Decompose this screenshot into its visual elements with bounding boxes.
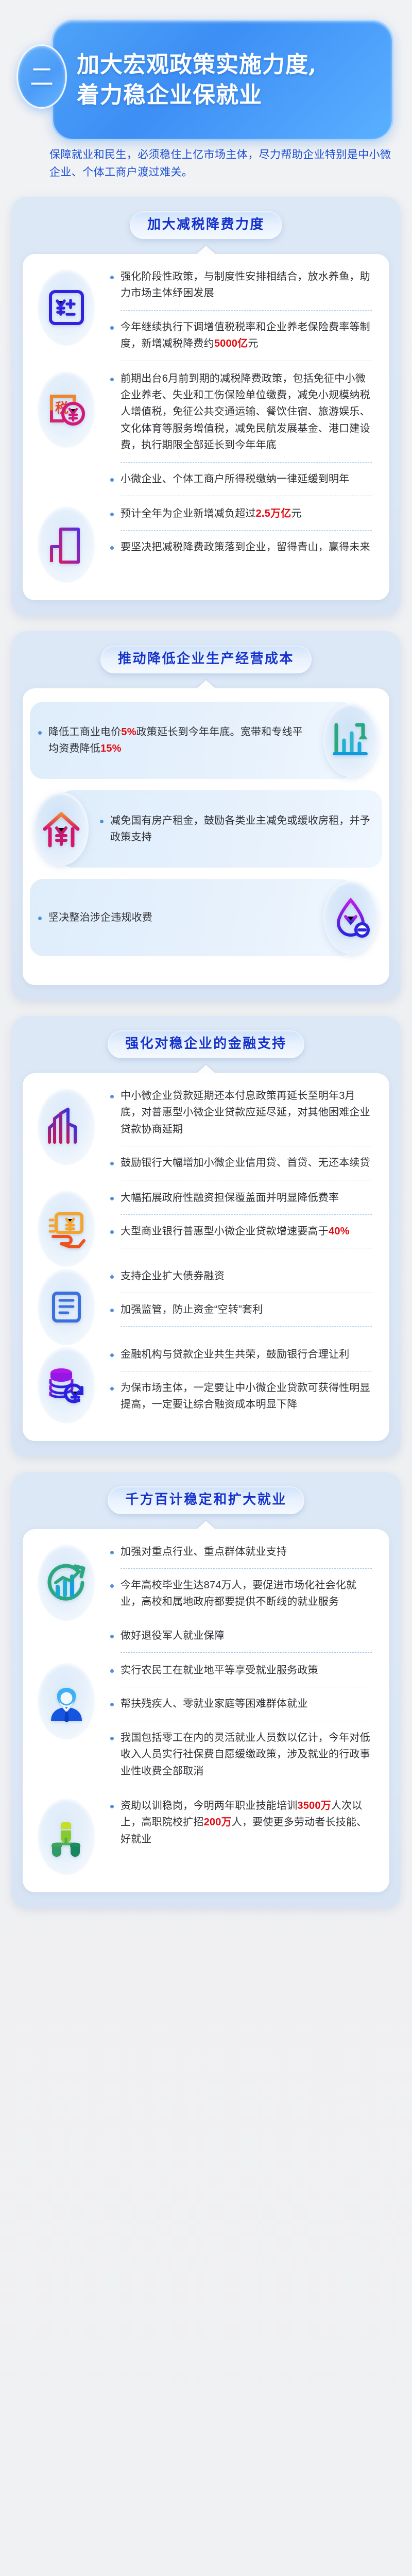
policy-group-row: 税 前期出台6月前到期的减税降费政策，包括免征中小微企业养老、失业和工伤保险单位… (23, 369, 389, 504)
infographic-page: 加大宏观政策实施力度, 着力稳企业保就业 二 保障就业和民生，必须稳住上亿市场主… (0, 0, 412, 2576)
bullet-divider (121, 361, 372, 361)
bullet-text: 坚决整治涉企违规收费 (48, 909, 312, 926)
bullet-dot-icon (110, 1669, 114, 1673)
highlight-number: 3500万 (297, 1800, 331, 1811)
group-icon-slot (23, 1797, 110, 1875)
section-title: 千方百计稳定和扩大就业 (125, 1493, 287, 1506)
bullet-divider (121, 530, 372, 531)
policy-section: 强化对稳企业的金融支持 中小微企业贷款延期还本付息政策再延长至明年3月底，对普惠… (11, 1016, 401, 1456)
pill-text-slot: 降低工商业电价5%政策延长到今年年底。宽带和专线平均资费降低15% (23, 715, 312, 767)
highlight-number: 5% (121, 726, 136, 738)
section-notch-arrow (196, 1521, 216, 1530)
policy-group-row: 中小微企业贷款延期还本付息政策再延长至明年3月底，对普惠型小微企业贷款应延尽延，… (23, 1087, 389, 1189)
yen-calculator-icon (38, 269, 95, 346)
bullet-dot-icon (110, 1805, 114, 1808)
bullet-item: 我国包括零工在内的灵活就业人员数以亿计，今年对低收入人员实行社保费自愿缓缴政策，… (110, 1730, 372, 1780)
city-skyline-icon (38, 1089, 95, 1165)
bullet-text: 鼓励银行大幅增加小微企业信用贷、首贷、无还本续贷 (121, 1155, 372, 1171)
bar-chart-building-icon (38, 506, 95, 583)
bullet-dot-icon (110, 513, 114, 516)
bullet-divider (121, 1652, 372, 1653)
policy-group-row: 大幅拓展政府性融资担保覆盖面并明显降低费率大型商业银行普惠型小微企业贷款增速要高… (23, 1189, 389, 1267)
body-text: 降低工商业电价 (48, 726, 121, 738)
bullet-dot-icon (110, 1309, 114, 1312)
body-text: 大幅拓展政府性融资担保覆盖面并明显降低费率 (121, 1192, 339, 1204)
highlight-number: 200万 (204, 1817, 232, 1828)
bullet-dot-icon (110, 1162, 114, 1165)
bullet-item: 大型商业银行普惠型小微企业贷款增速要高于40% (110, 1223, 372, 1240)
group-icon-slot: 税 (23, 369, 110, 448)
body-text: 鼓励银行大幅增加小微企业信用贷、首贷、无还本续贷 (121, 1157, 370, 1168)
highlight-number: 2.5万亿 (256, 508, 291, 519)
bullet-text: 做好退役军人就业保障 (121, 1628, 372, 1644)
bullet-text: 强化阶段性政策，与制度性安排相结合，放水养鱼，助力市场主体纾困发展 (121, 268, 372, 302)
bullet-dot-icon (110, 276, 114, 279)
bullet-item: 预计全年为企业新增减负超过2.5万亿元 (110, 505, 372, 522)
bullet-item: 加强监管，防止资金“空转”套利 (110, 1301, 372, 1318)
businessman-avatar-icon (38, 1663, 95, 1739)
pill-icon-slot (23, 792, 100, 866)
policy-section: 推动降低企业生产经营成本降低工商业电价5%政策延长到今年年底。宽带和专线平均资费… (11, 631, 401, 1001)
bullet-item: 做好退役军人就业保障 (110, 1628, 372, 1644)
body-text: 元 (291, 508, 301, 519)
growth-chart-arrow-icon (38, 1545, 95, 1621)
bullet-text: 要坚决把减税降费政策落到企业，留得青山，赢得未来 (121, 539, 372, 555)
highlight-number: 15% (100, 743, 122, 754)
bullet-text: 我国包括零工在内的灵活就业人员数以亿计，今年对低收入人员实行社保费自愿缓缴政策，… (121, 1730, 372, 1780)
group-text-slot: 大幅拓展政府性融资担保覆盖面并明显降低费率大型商业银行普惠型小微企业贷款增速要高… (110, 1189, 389, 1257)
bullet-divider (121, 1146, 372, 1146)
bullet-item: 支持企业扩大债券融资 (110, 1268, 372, 1284)
group-text-slot: 支持企业扩大债券融资加强监管，防止资金“空转”套利 (110, 1267, 389, 1335)
bullet-item: 为保市场主体，一定要让中小微企业贷款可获得性明显提高，一定要让综合融资成本明显下… (110, 1380, 372, 1413)
group-icon-slot (23, 1661, 110, 1739)
bullet-dot-icon (110, 478, 114, 482)
bullet-text: 加强监管，防止资金“空转”套利 (121, 1301, 372, 1318)
group-text-slot: 金融机构与贷款企业共生共荣，鼓励银行合理让利为保市场主体，一定要让中小微企业贷款… (110, 1345, 389, 1413)
pill-text-slot: 坚决整治涉企违规收费 (23, 900, 312, 935)
bullet-dot-icon (110, 1275, 114, 1279)
page-title: 加大宏观政策实施力度, 着力稳企业保就业 (77, 50, 317, 110)
section-title: 强化对稳企业的金融支持 (125, 1037, 287, 1050)
bullet-dot-icon (110, 1387, 114, 1391)
bullet-dot-icon (110, 378, 114, 381)
bullet-dot-icon (110, 1584, 114, 1588)
bullet-text: 帮扶残疾人、零就业家庭等困难群体就业 (121, 1696, 372, 1712)
bullet-item: 小微企业、个体工商户所得税缴纳一律延缓到明年 (110, 471, 372, 487)
policy-group-row: 支持企业扩大债券融资加强监管，防止资金“空转”套利 (23, 1267, 389, 1345)
bullet-item: 减免国有房产租金，鼓励各类业主减免或缓收房租，并予政策支持 (100, 812, 372, 846)
pill-icon-slot (312, 704, 389, 777)
section-title-pill: 强化对稳企业的金融支持 (108, 1030, 304, 1058)
bullet-text: 金融机构与贷款企业共生共荣，鼓励银行合理让利 (121, 1346, 372, 1363)
bullet-dot-icon (110, 546, 114, 550)
body-text: 帮扶残疾人、零就业家庭等困难群体就业 (121, 1698, 308, 1709)
section-title-pill: 加大减税降费力度 (130, 211, 282, 239)
bullet-item: 坚决整治涉企违规收费 (38, 909, 312, 926)
bullet-text: 减免国有房产租金，鼓励各类业主减免或缓收房租，并予政策支持 (110, 812, 372, 846)
bullet-item: 今年高校毕业生达874万人，要促进市场化社会化就业，高校和属地政府都要提供不断线… (110, 1577, 372, 1611)
bullet-dot-icon (110, 1197, 114, 1200)
policy-pill-row: 降低工商业电价5%政策延长到今年年底。宽带和专线平均资费降低15% (23, 702, 389, 779)
bullet-divider (121, 1721, 372, 1721)
policy-pill-row: 坚决整治涉企违规收费 (23, 879, 389, 956)
bullet-dot-icon (110, 1095, 114, 1098)
policy-group-row: 预计全年为企业新增减负超过2.5万亿元要坚决把减税降费政策落到企业，留得青山，赢… (23, 504, 389, 583)
bullet-item: 中小微企业贷款延期还本付息政策再延长至明年3月底，对普惠型小微企业贷款应延尽延，… (110, 1088, 372, 1138)
body-text: 大型商业银行普惠型小微企业贷款增速要高于 (121, 1226, 329, 1237)
bullet-item: 帮扶残疾人、零就业家庭等困难群体就业 (110, 1696, 372, 1712)
body-text: 小微企业、个体工商户所得税缴纳一律延缓到明年 (121, 473, 349, 485)
group-text-slot: 强化阶段性政策，与制度性安排相结合，放水养鱼，助力市场主体纾困发展今年继续执行下… (110, 267, 389, 369)
hand-money-card-icon (38, 1191, 95, 1267)
bullet-divider (121, 1788, 372, 1788)
bullet-item: 实行农民工在就业地平等享受就业服务政策 (110, 1662, 372, 1679)
bullet-item: 降低工商业电价5%政策延长到今年年底。宽带和专线平均资费降低15% (38, 724, 312, 757)
policy-section: 千方百计稳定和扩大就业 加强对重点行业、重点群体就业支持今年高校毕业生达874万… (11, 1472, 401, 1908)
body-text: 实行农民工在就业地平等享受就业服务政策 (121, 1665, 318, 1676)
section-body: 加强对重点行业、重点群体就业支持今年高校毕业生达874万人，要促进市场化社会化就… (23, 1529, 389, 1893)
body-text: 前期出台6月前到期的减税降费政策，包括免征中小微企业养老、失业和工伤保险单位缴费… (121, 373, 370, 451)
bullet-dot-icon (110, 1230, 114, 1234)
yen-droplet-minus-icon (323, 881, 378, 954)
policy-pill-row: 减免国有房产租金，鼓励各类业主减免或缓收房租，并予政策支持 (23, 790, 389, 868)
bullet-text: 实行农民工在就业地平等享受就业服务政策 (121, 1662, 372, 1679)
group-icon-slot (23, 267, 110, 346)
sections-container: 加大减税降费力度 强化阶段性政策，与制度性安排相结合，放水养鱼，助力市场主体纾困… (0, 197, 412, 1908)
page-title-line1: 加大宏观政策实施力度, (77, 50, 317, 80)
body-text: 支持企业扩大债券融资 (121, 1270, 225, 1282)
section-title: 加大减税降费力度 (147, 218, 265, 231)
bullet-text: 为保市场主体，一定要让中小微企业贷款可获得性明显提高，一定要让综合融资成本明显下… (121, 1380, 372, 1413)
body-text: 资助以训稳岗，今明两年职业技能培训 (121, 1800, 297, 1811)
page-header: 加大宏观政策实施力度, 着力稳企业保就业 二 (0, 0, 412, 149)
section-title: 推动降低企业生产经营成本 (118, 652, 294, 666)
declining-bar-chart-icon (323, 704, 378, 777)
bullet-dot-icon (38, 917, 42, 920)
policy-group-row: 金融机构与贷款企业共生共荣，鼓励银行合理让利为保市场主体，一定要让中小微企业贷款… (23, 1345, 389, 1423)
body-text: 今年高校毕业生达874万人，要促进市场化社会化就业，高校和属地政府都要提供不断线… (121, 1580, 356, 1607)
bullet-text: 资助以训稳岗，今明两年职业技能培训3500万人次以上，高职院校扩招200万人，要… (121, 1798, 372, 1848)
bullet-dot-icon (110, 1737, 114, 1740)
bullet-text: 加强对重点行业、重点群体就业支持 (121, 1544, 372, 1560)
policy-section: 加大减税降费力度 强化阶段性政策，与制度性安排相结合，放水养鱼，助力市场主体纾困… (11, 197, 401, 616)
body-text: 加强监管，防止资金“空转”套利 (121, 1304, 263, 1315)
people-network-icon (38, 1799, 95, 1875)
section-body: 强化阶段性政策，与制度性安排相结合，放水养鱼，助力市场主体纾困发展今年继续执行下… (23, 254, 389, 600)
group-icon-slot (23, 1267, 110, 1345)
bullet-dot-icon (38, 731, 42, 735)
bullet-divider (121, 1326, 372, 1327)
bullet-item: 大幅拓展政府性融资担保覆盖面并明显降低费率 (110, 1190, 372, 1206)
section-title-pill: 千方百计稳定和扩大就业 (108, 1486, 304, 1514)
bullet-text: 小微企业、个体工商户所得税缴纳一律延缓到明年 (121, 471, 372, 487)
policy-group-row: 强化阶段性政策，与制度性安排相结合，放水养鱼，助力市场主体纾困发展今年继续执行下… (23, 267, 389, 369)
section-title-pill: 推动降低企业生产经营成本 (100, 646, 312, 673)
group-text-slot: 中小微企业贷款延期还本付息政策再延长至明年3月底，对普惠型小微企业贷款应延尽延，… (110, 1087, 389, 1189)
header-banner: 加大宏观政策实施力度, 着力稳企业保就业 (51, 20, 393, 141)
bullet-text: 支持企业扩大债券融资 (121, 1268, 372, 1284)
body-text: 预计全年为企业新增减负超过 (121, 508, 256, 519)
policy-group-row: 资助以训稳岗，今明两年职业技能培训3500万人次以上，高职院校扩招200万人，要… (23, 1797, 389, 1875)
bullet-text: 降低工商业电价5%政策延长到今年年底。宽带和专线平均资费降低15% (48, 724, 312, 757)
bullet-divider (121, 1371, 372, 1371)
bullet-divider (121, 1619, 372, 1619)
group-icon-slot (23, 1345, 110, 1423)
group-icon-slot (23, 504, 110, 583)
bullet-text: 中小微企业贷款延期还本付息政策再延长至明年3月底，对普惠型小微企业贷款应延尽延，… (121, 1088, 372, 1138)
section-number-label: 二 (30, 65, 54, 89)
bullet-dot-icon (110, 1551, 114, 1554)
body-text: 加强对重点行业、重点群体就业支持 (121, 1546, 287, 1557)
bullet-dot-icon (110, 1353, 114, 1357)
bullet-item: 强化阶段性政策，与制度性安排相结合，放水养鱼，助力市场主体纾困发展 (110, 268, 372, 302)
bullet-text: 大型商业银行普惠型小微企业贷款增速要高于40% (121, 1223, 372, 1240)
bullet-text: 前期出台6月前到期的减税降费政策，包括免征中小微企业养老、失业和工伤保险单位缴费… (121, 370, 372, 454)
bullet-item: 鼓励银行大幅增加小微企业信用贷、首贷、无还本续贷 (110, 1155, 372, 1171)
tax-yen-icon: 税 (38, 371, 95, 448)
section-notch-arrow (196, 246, 216, 255)
pill-text-slot: 减免国有房产租金，鼓励各类业主减免或缓收房租，并予政策支持 (100, 803, 389, 855)
section-notch-arrow (196, 680, 216, 689)
intro-paragraph: 保障就业和民生，必须稳住上亿市场主体，尽力帮助企业特别是中小微企业、个体工商户渡… (0, 146, 412, 181)
house-yen-icon (34, 792, 89, 866)
group-text-slot: 加强对重点行业、重点群体就业支持今年高校毕业生达874万人，要促进市场化社会化就… (110, 1543, 389, 1662)
body-text: 要坚决把减税降费政策落到企业，留得青山，赢得未来 (121, 541, 370, 553)
section-number-badge: 二 (16, 44, 67, 109)
group-text-slot: 资助以训稳岗，今明两年职业技能培训3500万人次以上，高职院校扩招200万人，要… (110, 1797, 389, 1848)
pill-icon-slot (312, 881, 389, 954)
bullet-text: 预计全年为企业新增减负超过2.5万亿元 (121, 505, 372, 522)
body-text: 中小微企业贷款延期还本付息政策再延长至明年3月底，对普惠型小微企业贷款应延尽延，… (121, 1090, 370, 1135)
bond-plain-icon (38, 1269, 95, 1345)
section-notch-arrow (196, 1065, 216, 1074)
bullet-divider (121, 496, 372, 496)
bullet-text: 大幅拓展政府性融资担保覆盖面并明显降低费率 (121, 1190, 372, 1206)
highlight-number: 5000亿 (214, 338, 248, 349)
bullet-item: 加强对重点行业、重点群体就业支持 (110, 1544, 372, 1560)
group-text-slot: 前期出台6月前到期的减税降费政策，包括免征中小微企业养老、失业和工伤保险单位缴费… (110, 369, 389, 504)
highlight-number: 40% (329, 1226, 350, 1237)
bullet-item: 资助以训稳岗，今明两年职业技能培训3500万人次以上，高职院校扩招200万人，要… (110, 1798, 372, 1848)
bullet-item: 金融机构与贷款企业共生共荣，鼓励银行合理让利 (110, 1346, 372, 1363)
body-text: 元 (248, 338, 258, 349)
bullet-text: 今年继续执行下调增值税税率和企业养老保险费率等制度，新增减税降费约5000亿元 (121, 319, 372, 352)
body-text: 坚决整治涉企违规收费 (48, 912, 152, 923)
group-text-slot: 实行农民工在就业地平等享受就业服务政策帮扶残疾人、零就业家庭等困难群体就业我国包… (110, 1661, 389, 1797)
coins-stack-yen-icon (38, 1347, 95, 1423)
bullet-divider (121, 1293, 372, 1293)
body-text: 为保市场主体，一定要让中小微企业贷款可获得性明显提高，一定要让综合融资成本明显下… (121, 1382, 370, 1410)
bullet-divider (121, 310, 372, 311)
group-icon-slot (23, 1087, 110, 1165)
bullet-item: 今年继续执行下调增值税税率和企业养老保险费率等制度，新增减税降费约5000亿元 (110, 319, 372, 352)
body-text: 金融机构与贷款企业共生共荣，鼓励银行合理让利 (121, 1349, 349, 1360)
bullet-dot-icon (110, 326, 114, 330)
bullet-divider (121, 1687, 372, 1687)
bullet-item: 前期出台6月前到期的减税降费政策，包括免征中小微企业养老、失业和工伤保险单位缴费… (110, 370, 372, 454)
bullet-dot-icon (100, 820, 104, 823)
group-icon-slot (23, 1543, 110, 1621)
policy-group-row: 实行农民工在就业地平等享受就业服务政策帮扶残疾人、零就业家庭等困难群体就业我国包… (23, 1661, 389, 1797)
body-text: 减免国有房产租金，鼓励各类业主减免或缓收房租，并予政策支持 (110, 815, 370, 843)
body-text: 做好退役军人就业保障 (121, 1630, 225, 1641)
page-title-line2: 着力稳企业保就业 (77, 80, 317, 110)
bullet-divider (121, 462, 372, 463)
policy-group-row: 加强对重点行业、重点群体就业支持今年高校毕业生达874万人，要促进市场化社会化就… (23, 1543, 389, 1662)
bullet-dot-icon (110, 1703, 114, 1706)
section-body: 中小微企业贷款延期还本付息政策再延长至明年3月底，对普惠型小微企业贷款应延尽延，… (23, 1073, 389, 1441)
bullet-item: 要坚决把减税降费政策落到企业，留得青山，赢得未来 (110, 539, 372, 555)
body-text: 我国包括零工在内的灵活就业人员数以亿计，今年对低收入人员实行社保费自愿缓缴政策，… (121, 1732, 370, 1777)
body-text: 强化阶段性政策，与制度性安排相结合，放水养鱼，助力市场主体纾困发展 (121, 271, 370, 299)
bullet-divider (121, 1568, 372, 1569)
section-body: 降低工商业电价5%政策延长到今年年底。宽带和专线平均资费降低15% 减免国有房产… (23, 688, 389, 985)
bullet-divider (121, 1180, 372, 1180)
group-text-slot: 预计全年为企业新增减负超过2.5万亿元要坚决把减税降费政策落到企业，留得青山，赢… (110, 504, 389, 556)
bullet-text: 今年高校毕业生达874万人，要促进市场化社会化就业，高校和属地政府都要提供不断线… (121, 1577, 372, 1611)
bullet-dot-icon (110, 1635, 114, 1638)
bullet-divider (121, 1214, 372, 1215)
bullet-divider (121, 1248, 372, 1248)
group-icon-slot (23, 1189, 110, 1267)
